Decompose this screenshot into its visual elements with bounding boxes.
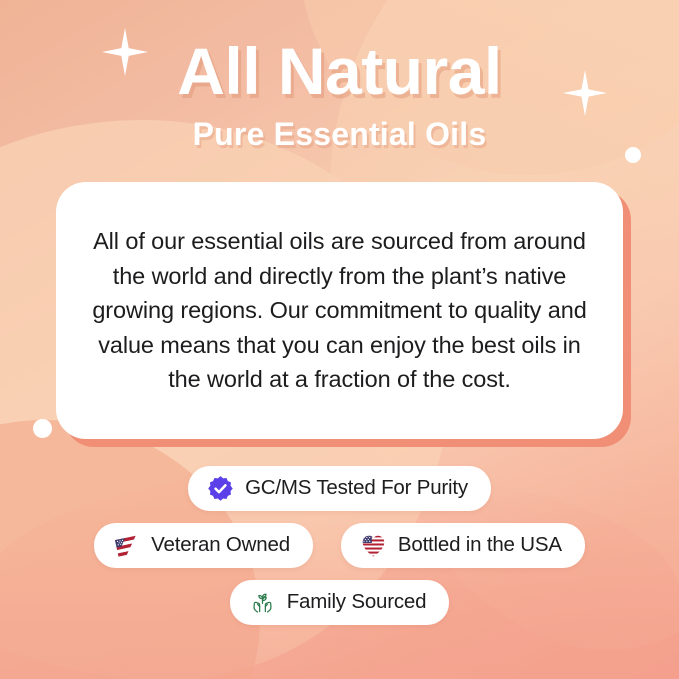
verified-badge-icon — [207, 475, 234, 502]
hands-holding-plant-icon — [249, 589, 276, 616]
badge-veteran-owned[interactable]: Veteran Owned — [94, 523, 313, 568]
badge-label: Family Sourced — [287, 592, 427, 613]
heart-us-flag-icon — [360, 532, 387, 559]
badge-row: GC/MS Tested For Purity — [188, 466, 491, 511]
infographic-canvas: All Natural Pure Essential Oils All of o… — [0, 0, 679, 679]
page-title: All Natural — [0, 38, 679, 104]
badge-row: Veteran Owned — [94, 523, 585, 568]
page-subtitle: Pure Essential Oils — [0, 118, 679, 150]
description-text: All of our essential oils are sourced fr… — [80, 224, 599, 397]
badge-label: Veteran Owned — [151, 535, 290, 556]
badge-label: Bottled in the USA — [398, 535, 562, 556]
header-block: All Natural Pure Essential Oils — [0, 38, 679, 150]
badge-gcms-tested[interactable]: GC/MS Tested For Purity — [188, 466, 491, 511]
badge-label: GC/MS Tested For Purity — [245, 478, 468, 499]
trust-badges: GC/MS Tested For Purity — [0, 466, 679, 625]
badge-bottled-in-usa[interactable]: Bottled in the USA — [341, 523, 585, 568]
badge-family-sourced[interactable]: Family Sourced — [230, 580, 450, 625]
description-card: All of our essential oils are sourced fr… — [56, 182, 623, 439]
waving-us-flag-icon — [113, 532, 140, 559]
badge-row: Family Sourced — [230, 580, 450, 625]
decorative-dot-left — [33, 419, 52, 438]
